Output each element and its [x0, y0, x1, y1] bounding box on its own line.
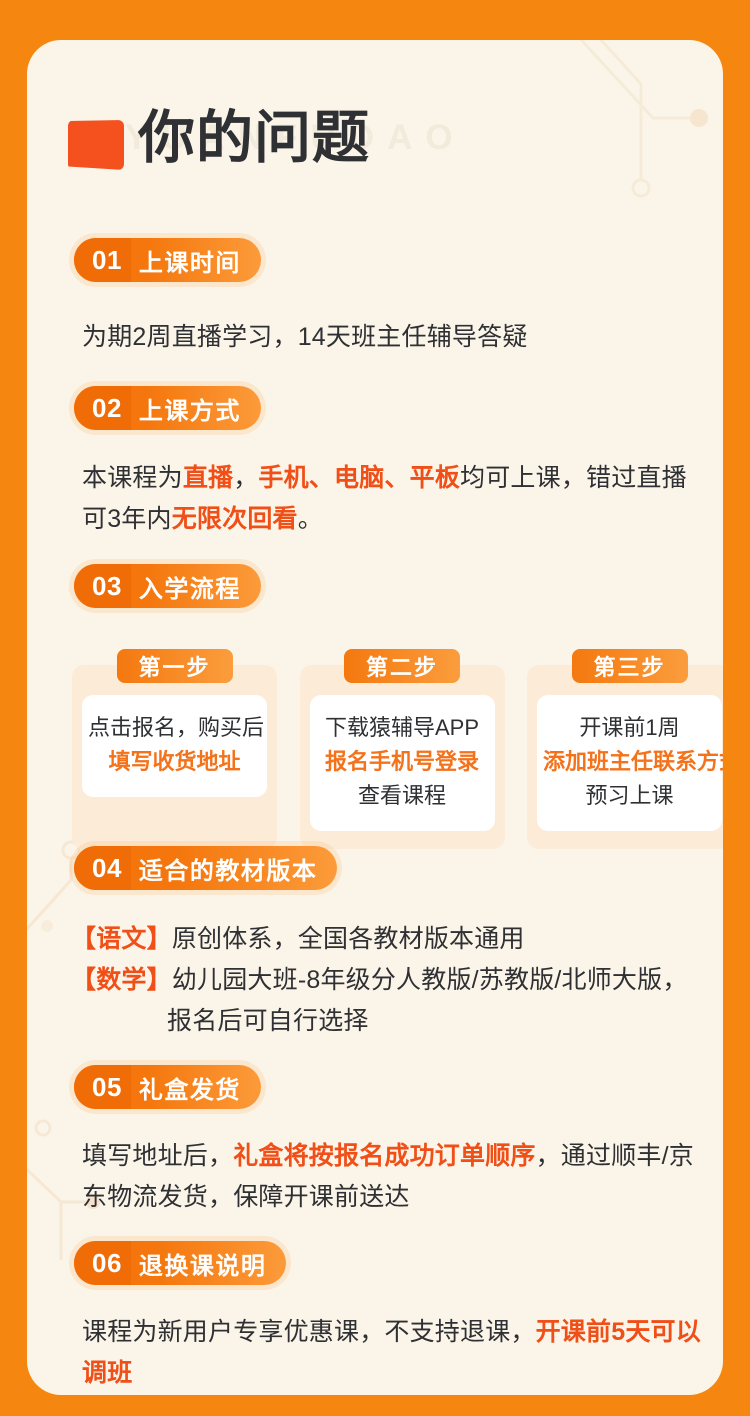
section-title-01: 上课时间 [131, 238, 261, 282]
step-line: 下载猿辅导APP [316, 711, 489, 745]
textbook-row-chinese: 【语文】原创体系，全国各教材版本通用 [71, 919, 723, 960]
step-line-highlight: 报名手机号登录 [316, 745, 489, 779]
text-run-highlight: 礼盒将按报名成功订单顺序 [233, 1142, 535, 1170]
step-card-3: 第三步 开课前1周 添加班主任联系方式 预习上课 [527, 665, 723, 849]
step-badge-1: 第一步 [116, 649, 232, 683]
textbook-detail-continued: 报名后可自行选择 [71, 1001, 723, 1042]
textbook-subject-tag: 【语文】 [71, 925, 172, 953]
section-title-04: 适合的教材版本 [131, 846, 338, 890]
section-number-02: 02 [74, 386, 131, 430]
step-line-highlight: 添加班主任联系方式 [543, 745, 716, 779]
section-title-06: 退换课说明 [131, 1241, 287, 1285]
section-title-02: 上课方式 [131, 386, 261, 430]
step-line: 开课前1周 [543, 711, 716, 745]
page-title: 你的问题 [138, 103, 370, 174]
text-run: 课程为新用户专享优惠课，不支持退课， [82, 1318, 536, 1346]
section-number-04: 04 [74, 846, 131, 890]
circuit-decoration-top-right-icon [523, 40, 723, 260]
section-body-05: 填写地址后，礼盒将按报名成功订单顺序，通过顺丰/京东物流发货，保障开课前送达 [82, 1136, 707, 1218]
section-badge-01: 01 上课时间 [74, 238, 261, 282]
section-number-05: 05 [74, 1065, 131, 1109]
text-run: 为期2周直播学习，14天班主任辅导答疑 [82, 323, 528, 351]
section-body-04: 【语文】原创体系，全国各教材版本通用 【数学】幼儿园大班-8年级分人教版/苏教版… [71, 919, 723, 1042]
section-body-06: 课程为新用户专享优惠课，不支持退课，开课前5天可以调班 [82, 1312, 707, 1394]
textbook-detail: 幼儿园大班-8年级分人教版/苏教版/北师大版， [172, 966, 688, 994]
step-line: 查看课程 [316, 779, 489, 813]
textbook-subject-tag: 【数学】 [71, 966, 172, 994]
section-number-01: 01 [74, 238, 131, 282]
yuanfudao-logo-mark-icon [68, 120, 124, 170]
section-body-01: 为期2周直播学习，14天班主任辅导答疑 [82, 317, 707, 358]
text-run-highlight: 直播 [183, 464, 233, 492]
text-run: 本课程为 [82, 464, 183, 492]
section-badge-04: 04 适合的教材版本 [74, 846, 337, 890]
step-badge-2: 第二步 [344, 649, 460, 683]
section-body-02: 本课程为直播，手机、电脑、平板均可上课，错过直播可3年内无限次回看。 [82, 458, 707, 540]
step-content-1: 点击报名，购买后 填写收货地址 [82, 695, 267, 797]
text-run-highlight: 无限次回看 [172, 505, 298, 533]
step-line: 预习上课 [543, 779, 716, 813]
faq-card: YUANFUDAO 你的问题 01 上课时间 为期2周直播学习，14天班主任辅导… [27, 40, 723, 1395]
step-content-2: 下载猿辅导APP 报名手机号登录 查看课程 [310, 695, 495, 831]
section-title-05: 礼盒发货 [131, 1065, 261, 1109]
step-card-2: 第二步 下载猿辅导APP 报名手机号登录 查看课程 [300, 665, 505, 849]
enrollment-steps: 第一步 点击报名，购买后 填写收货地址 第二步 下载猿辅导APP 报名手机号登录… [72, 665, 723, 849]
step-line: 点击报名，购买后 [88, 711, 261, 745]
step-card-1: 第一步 点击报名，购买后 填写收货地址 [72, 665, 277, 849]
section-badge-03: 03 入学流程 [74, 564, 261, 608]
step-content-3: 开课前1周 添加班主任联系方式 预习上课 [537, 695, 722, 831]
section-badge-05: 05 礼盒发货 [74, 1065, 261, 1109]
section-title-03: 入学流程 [131, 564, 261, 608]
section-number-03: 03 [74, 564, 131, 608]
text-run: ， [233, 464, 258, 492]
step-badge-3: 第三步 [571, 649, 687, 683]
section-badge-02: 02 上课方式 [74, 386, 261, 430]
text-run-highlight: 手机、电脑、平板 [258, 464, 460, 492]
textbook-row-math: 【数学】幼儿园大班-8年级分人教版/苏教版/北师大版， [71, 960, 723, 1001]
text-run: 。 [298, 505, 323, 533]
step-line-highlight: 填写收货地址 [88, 745, 261, 779]
text-run: 填写地址后， [82, 1142, 233, 1170]
textbook-detail: 原创体系，全国各教材版本通用 [172, 925, 525, 953]
section-badge-06: 06 退换课说明 [74, 1241, 286, 1285]
section-number-06: 06 [74, 1241, 131, 1285]
